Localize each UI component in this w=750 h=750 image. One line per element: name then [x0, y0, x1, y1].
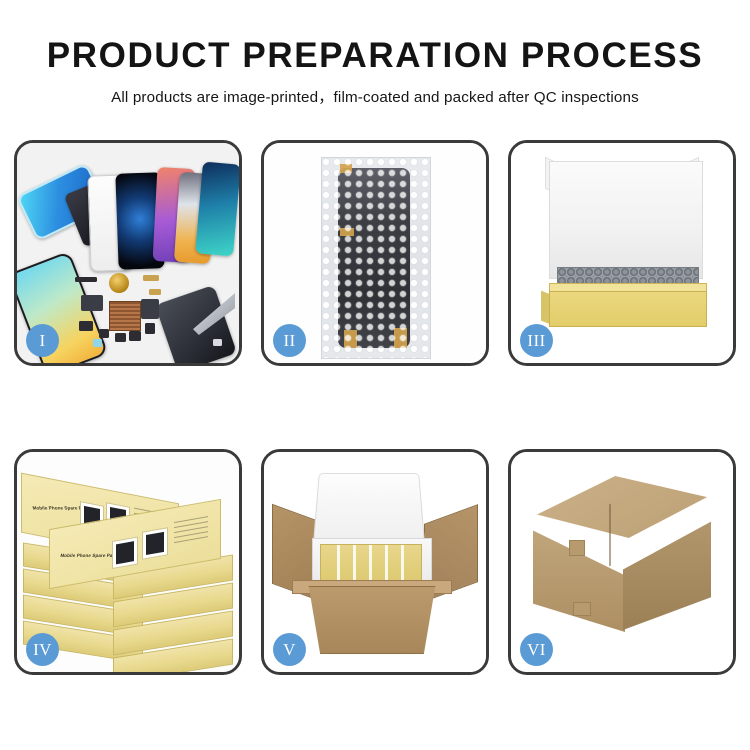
- small-part-7: [129, 331, 141, 341]
- carton-front-panel: [300, 586, 444, 654]
- step-panel-3[interactable]: III: [508, 140, 736, 366]
- small-part-10: [213, 339, 222, 346]
- bubble-texture-overlay: [322, 158, 430, 358]
- step-panel-6[interactable]: VI: [508, 449, 736, 675]
- small-part-3: [149, 289, 161, 295]
- step-badge-5: V: [273, 633, 306, 666]
- carton-tape-lower: [573, 602, 591, 616]
- small-part-1: [75, 277, 97, 282]
- step-panel-4[interactable]: Mobile Phone Spare Parts Mobile Phone: [14, 449, 242, 675]
- page-title: PRODUCT PREPARATION PROCESS: [0, 38, 750, 75]
- bubble-wrap-pouch: [321, 157, 431, 359]
- step-panel-5[interactable]: V: [261, 449, 489, 675]
- page-subtitle: All products are image-printed，film-coat…: [0, 85, 750, 107]
- phone-teal: [195, 162, 239, 257]
- small-part-8: [93, 339, 102, 347]
- step-badge-3: III: [520, 324, 553, 357]
- step-badge-6: VI: [520, 633, 553, 666]
- small-part-6: [115, 333, 126, 342]
- small-part-2: [143, 275, 159, 281]
- small-part-9: [145, 323, 155, 334]
- box-window-front-1: [112, 536, 138, 569]
- process-steps-grid: I II: [14, 140, 736, 675]
- step-panel-1[interactable]: I: [14, 140, 242, 366]
- product-preparation-infographic: PRODUCT PREPARATION PROCESS All products…: [0, 0, 750, 750]
- box-window-screen-front-1: [116, 541, 134, 564]
- flex-cable-1: [81, 295, 103, 311]
- step-badge-1: I: [26, 324, 59, 357]
- small-part-4: [79, 321, 93, 331]
- wireless-coil-part: [109, 273, 129, 293]
- small-part-5: [99, 329, 109, 338]
- flex-cable-2: [141, 299, 159, 319]
- carton-tape-upper: [569, 540, 585, 556]
- box-lid-panel: [549, 161, 703, 279]
- logic-board-part: [109, 301, 141, 331]
- step-badge-4: IV: [26, 633, 59, 666]
- yellow-boxes-tray: [320, 544, 422, 584]
- box-label-front: Mobile Phone Spare Parts: [60, 553, 119, 558]
- foam-cooler-lid: [313, 473, 425, 545]
- box-window-front-2: [142, 527, 168, 560]
- step-badge-2: II: [273, 324, 306, 357]
- carton-top-seam: [609, 504, 611, 567]
- step-panel-2[interactable]: II: [261, 140, 489, 366]
- box-base-front: [549, 291, 707, 327]
- header: PRODUCT PREPARATION PROCESS All products…: [0, 0, 750, 107]
- box-window-screen-front-2: [146, 532, 164, 555]
